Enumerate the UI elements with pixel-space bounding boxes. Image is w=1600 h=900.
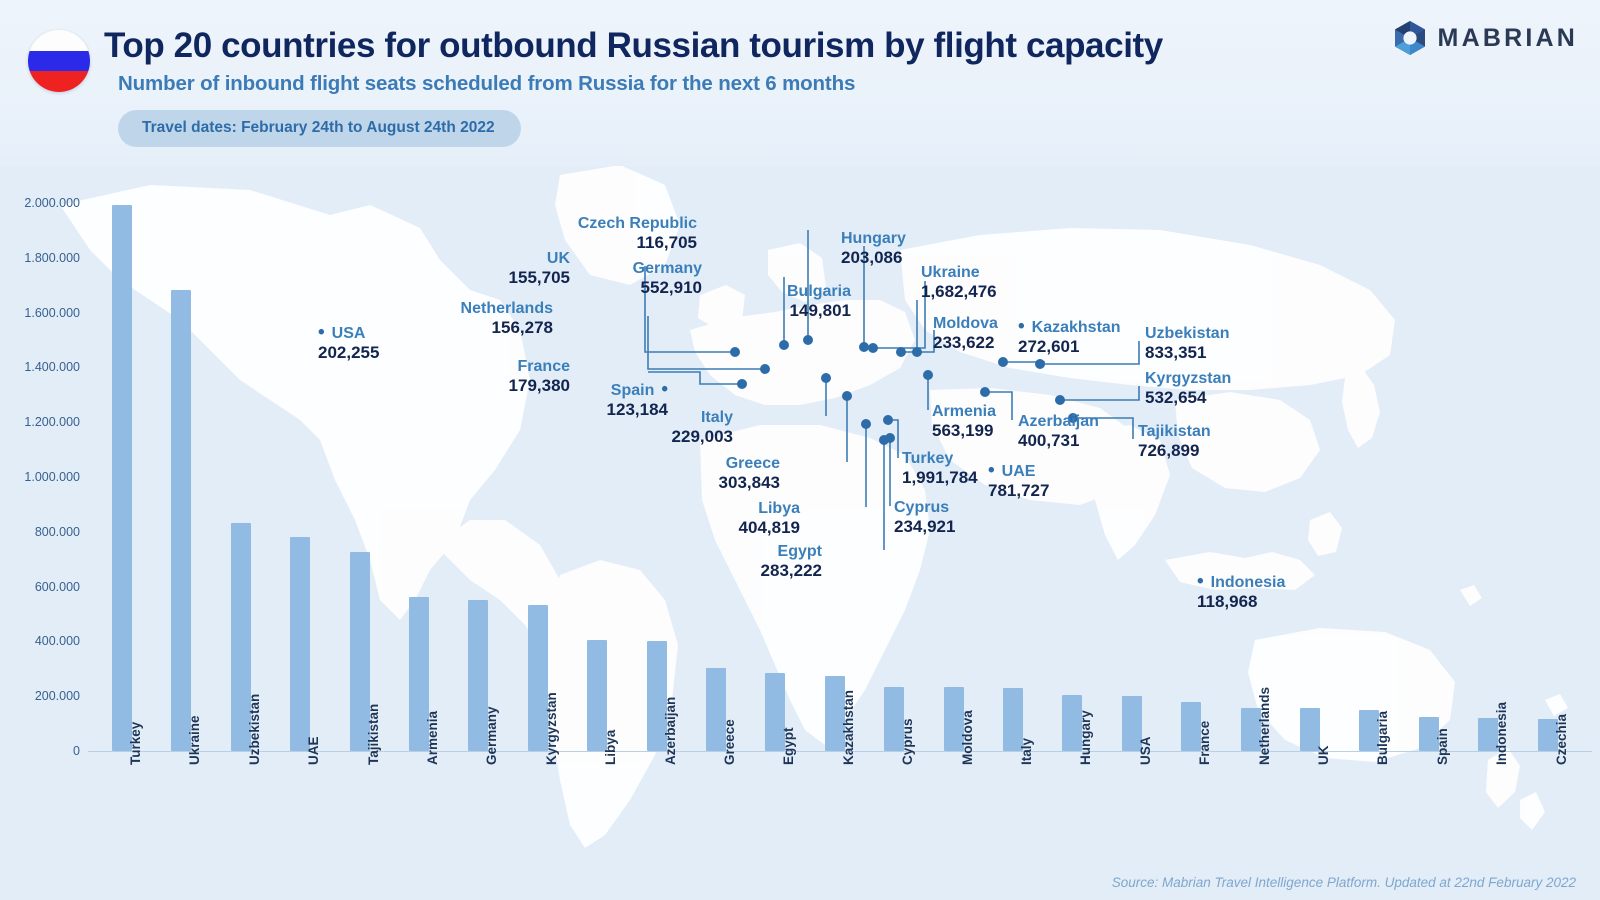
page-subtitle: Number of inbound flight seats scheduled… [118,72,855,96]
x-tick-label: Egypt [781,727,796,765]
x-tick-label: Libya [603,730,618,765]
x-tick-label: Kyrgyzstan [544,692,559,765]
brand-wordmark: MABRIAN [1438,24,1578,53]
hexagon-logo-icon [1393,20,1427,56]
x-tick-label: Moldova [960,710,975,765]
x-tick-label: Germany [484,706,499,765]
y-tick-label: 1.800.000 [0,251,80,265]
x-tick-label: Ukraine [187,715,202,765]
x-tick-label: Uzbekistan [247,694,262,765]
y-tick-label: 1.400.000 [0,360,80,374]
x-tick-label: Spain [1435,728,1450,765]
y-tick-label: 2.000.000 [0,196,80,210]
x-tick-label: Greece [722,719,737,765]
y-tick-label: 1.000.000 [0,470,80,484]
x-tick-label: UAE [306,736,321,765]
x-tick-label: France [1197,721,1212,765]
y-tick-label: 600.000 [0,580,80,594]
y-tick-label: 200.000 [0,689,80,703]
x-tick-label: Turkey [128,722,143,765]
x-tick-label: Czechia [1554,714,1569,765]
bar[interactable] [112,205,132,751]
bar-chart: 2.000.0001.800.0001.600.0001.400.0001.20… [0,166,1600,900]
x-tick-label: Indonesia [1494,702,1509,765]
x-tick-label: Armenia [425,711,440,765]
x-tick-label: Hungary [1078,710,1093,765]
y-tick-label: 800.000 [0,525,80,539]
page-title: Top 20 countries for outbound Russian to… [104,26,1163,66]
brand-logo: MABRIAN [1393,20,1578,56]
source-note: Source: Mabrian Travel Intelligence Plat… [1112,875,1576,890]
header: Top 20 countries for outbound Russian to… [0,0,1600,166]
x-tick-label: Bulgaria [1375,711,1390,765]
y-tick-label: 0 [0,744,80,758]
x-tick-label: USA [1138,736,1153,765]
y-tick-label: 1.600.000 [0,306,80,320]
russia-flag-icon [28,30,90,92]
x-tick-label: Tajikistan [366,704,381,765]
y-tick-label: 400.000 [0,634,80,648]
bar[interactable] [171,290,191,751]
y-tick-label: 1.200.000 [0,415,80,429]
travel-dates-badge: Travel dates: February 24th to August 24… [118,110,521,147]
x-tick-label: UK [1316,746,1331,766]
x-tick-label: Italy [1019,738,1034,765]
x-tick-label: Kazakhstan [841,690,856,765]
x-tick-label: Netherlands [1257,687,1272,765]
x-tick-label: Azerbaijan [663,697,678,765]
x-tick-label: Cyprus [900,718,915,765]
bar[interactable] [290,537,310,751]
